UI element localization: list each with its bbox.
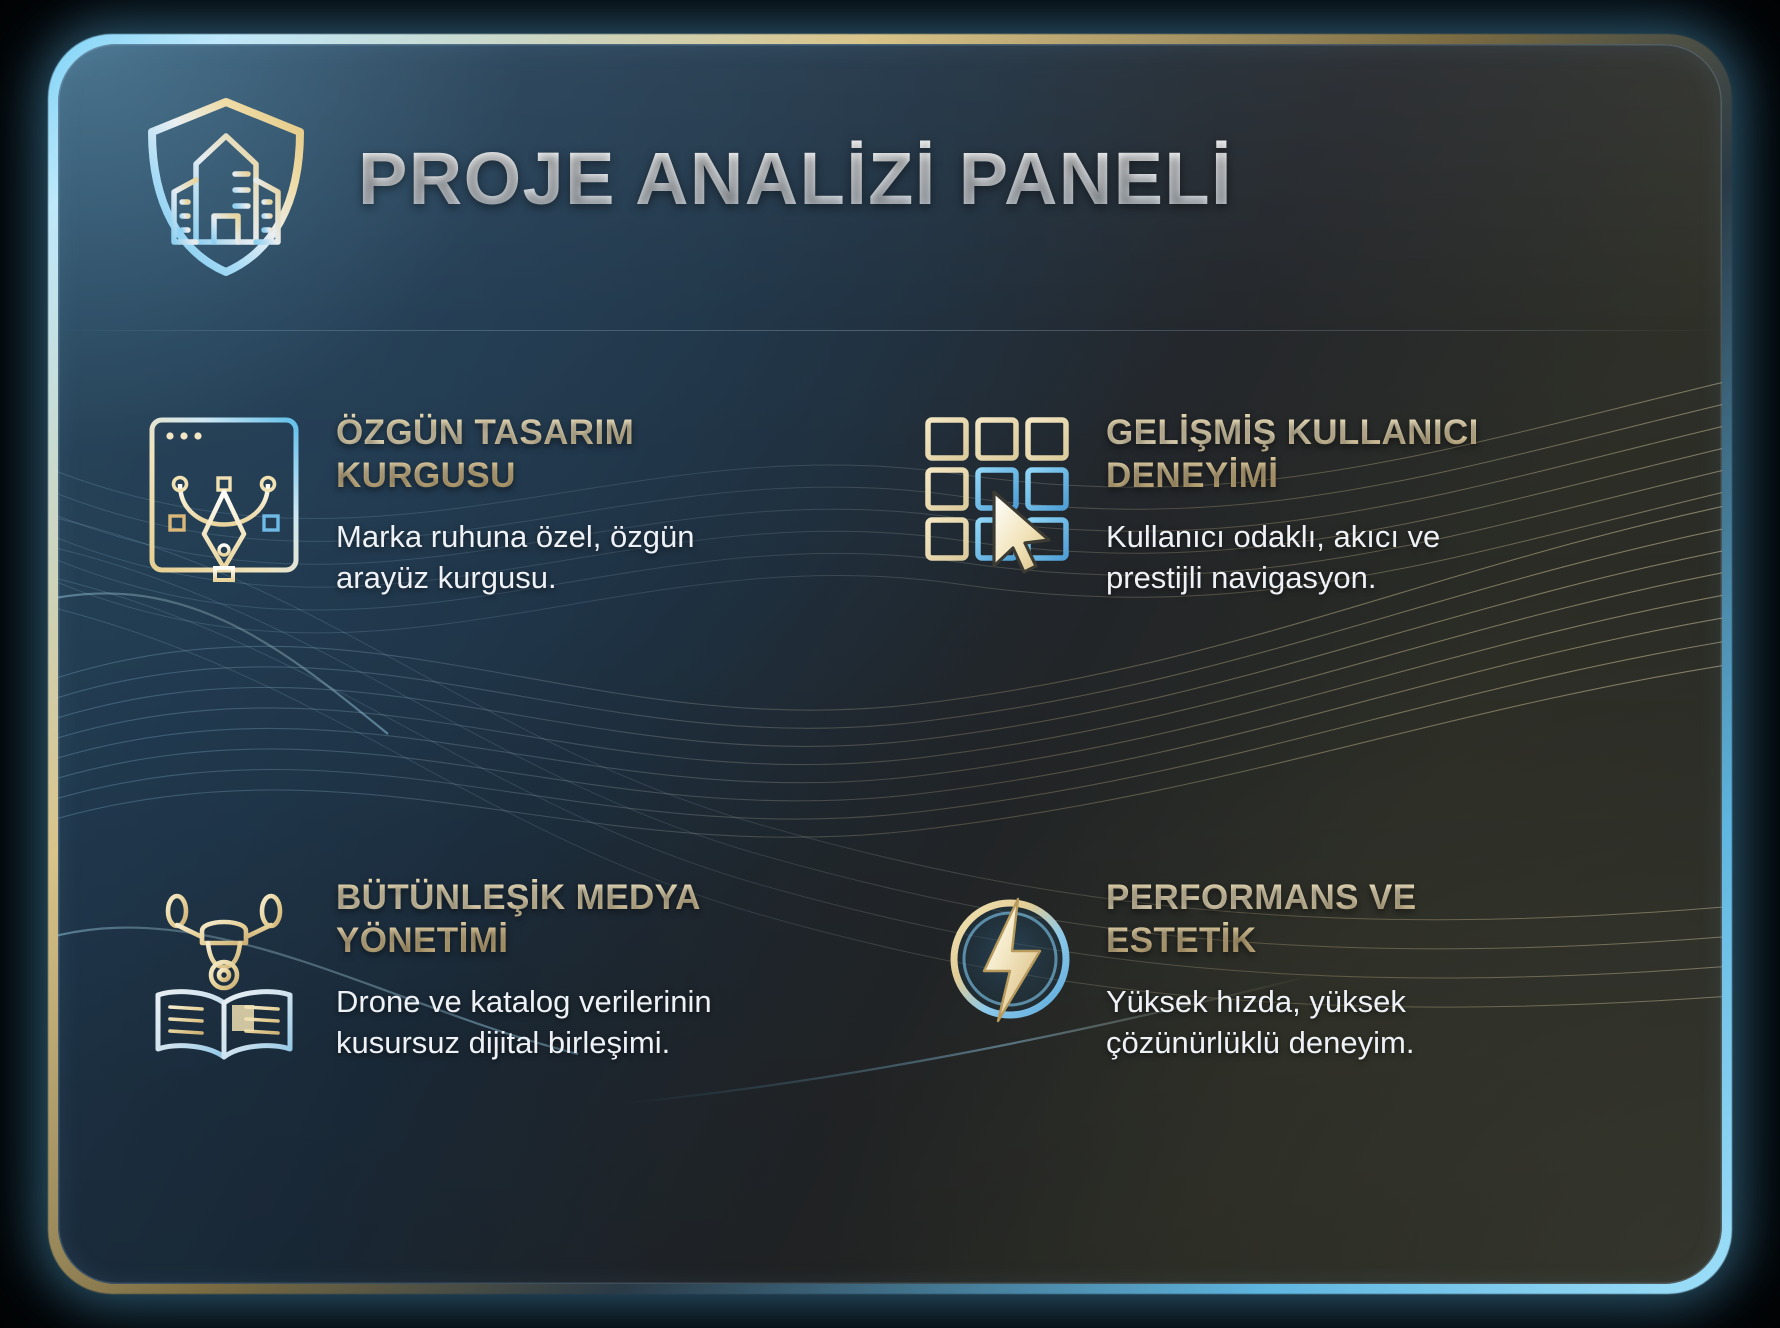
feature-card-ux[interactable]: GELİŞMİŞ KULLANICI DENEYİMİ Kullanıcı od… (890, 344, 1722, 809)
shield-building-icon (136, 92, 316, 282)
feature-card-text: GELİŞMİŞ KULLANICI DENEYİMİ Kullanıcı od… (1106, 400, 1682, 599)
feature-title: BÜTÜNLEŞİK MEDYA YÖNETİMİ (336, 877, 766, 962)
project-analysis-panel: PROJE ANALİZİ PANELİ (58, 44, 1722, 1284)
grid-cursor-icon (918, 406, 1078, 582)
feature-card-text: PERFORMANS VE ESTETİK Yüksek hızda, yüks… (1106, 865, 1682, 1064)
panel-header: PROJE ANALİZİ PANELİ (58, 44, 1722, 330)
features-grid: ÖZGÜN TASARIM KURGUSU Marka ruhuna özel,… (58, 344, 1722, 1274)
feature-description: Marka ruhuna özel, özgün arayüz kurgusu. (336, 517, 766, 599)
feature-card-text: BÜTÜNLEŞİK MEDYA YÖNETİMİ Drone ve katal… (336, 865, 850, 1064)
design-pen-tool-window-icon (140, 406, 308, 586)
feature-description: Kullanıcı odaklı, akıcı ve prestijli nav… (1106, 517, 1506, 599)
feature-card-text: ÖZGÜN TASARIM KURGUSU Marka ruhuna özel,… (336, 400, 850, 599)
drone-book-icon (140, 871, 308, 1051)
header-divider (58, 330, 1722, 331)
feature-description: Yüksek hızda, yüksek çözünürlüklü deneyi… (1106, 982, 1506, 1064)
screenshot-root: PROJE ANALİZİ PANELİ (0, 0, 1780, 1328)
lightning-speed-icon (918, 871, 1078, 1047)
feature-description: Drone ve katalog verilerinin kusursuz di… (336, 982, 766, 1064)
page-title: PROJE ANALİZİ PANELİ (358, 136, 1233, 221)
feature-card-media[interactable]: BÜTÜNLEŞİK MEDYA YÖNETİMİ Drone ve katal… (58, 809, 890, 1274)
feature-card-design[interactable]: ÖZGÜN TASARIM KURGUSU Marka ruhuna özel,… (58, 344, 890, 809)
feature-title: GELİŞMİŞ KULLANICI DENEYİMİ (1106, 412, 1506, 497)
feature-card-performance[interactable]: PERFORMANS VE ESTETİK Yüksek hızda, yüks… (890, 809, 1722, 1274)
feature-title: ÖZGÜN TASARIM KURGUSU (336, 412, 766, 497)
feature-title: PERFORMANS VE ESTETİK (1106, 877, 1506, 962)
